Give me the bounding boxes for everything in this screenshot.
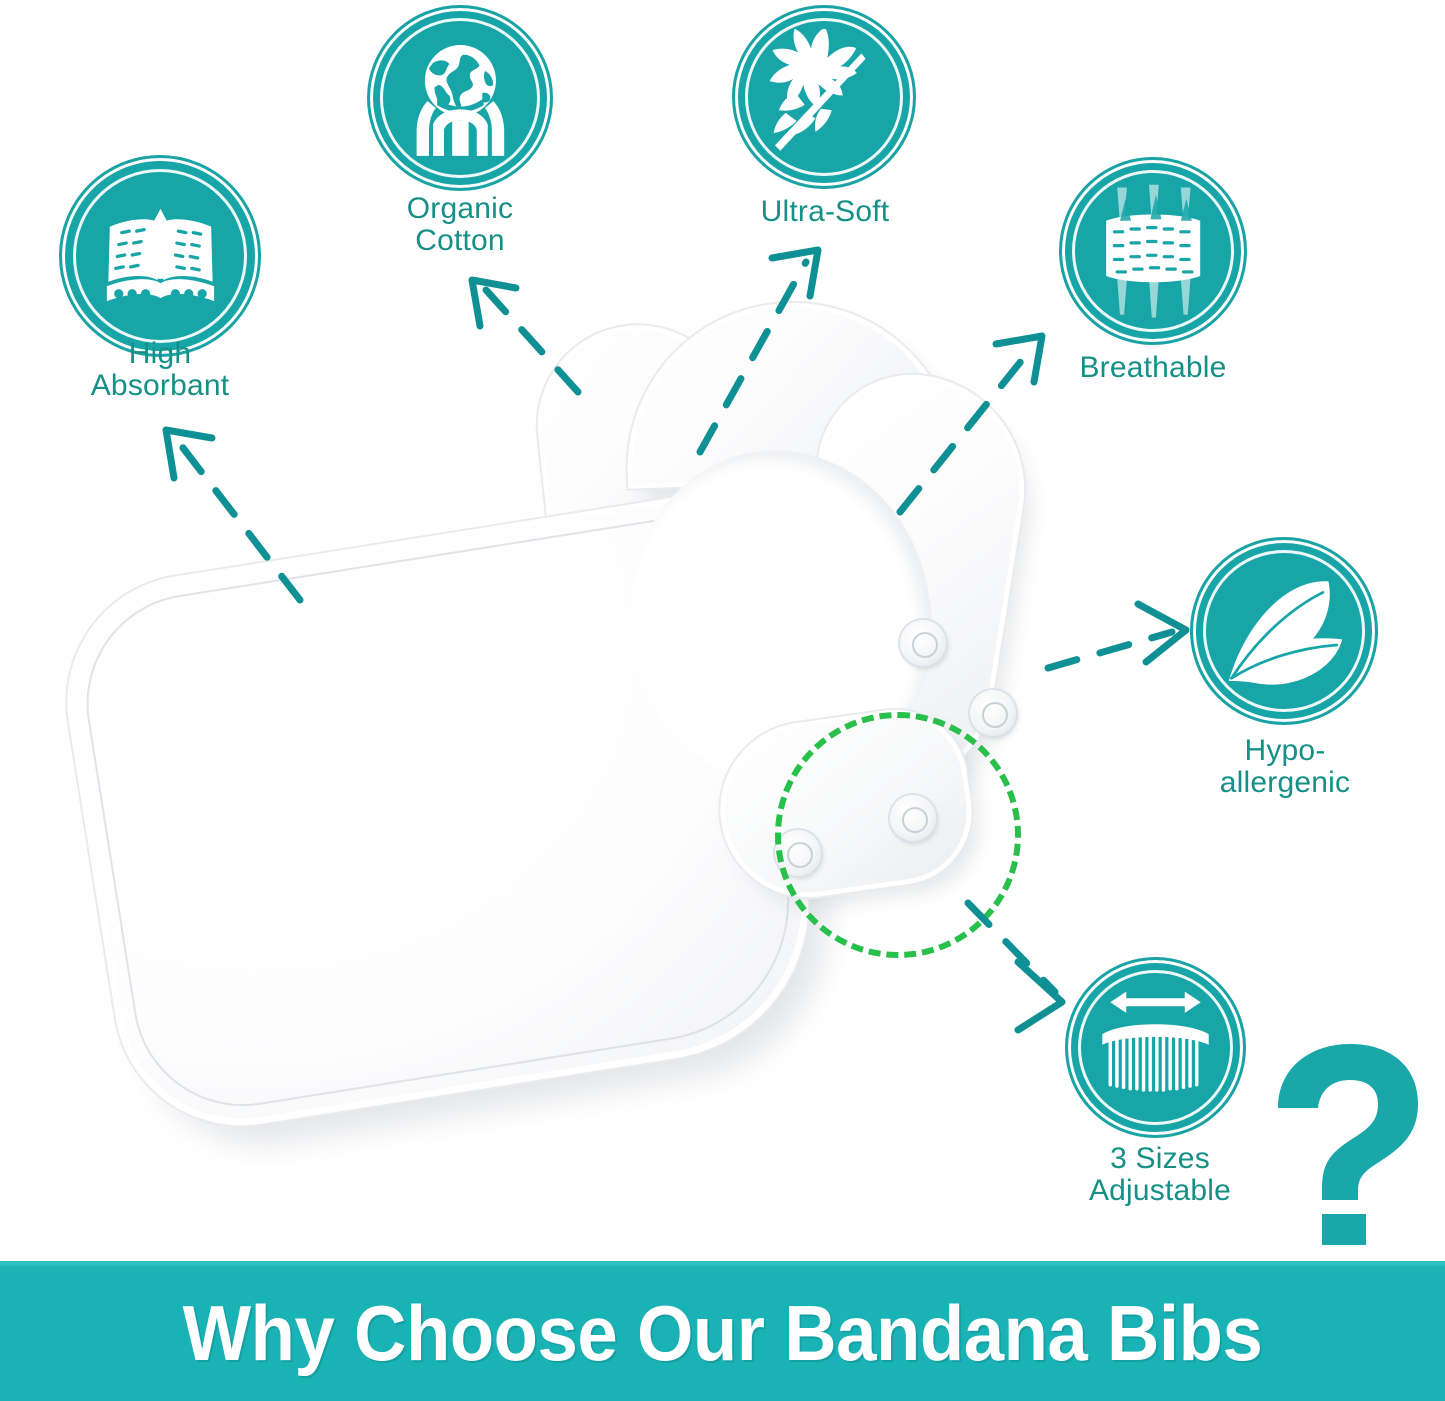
product-photo-bandana-bib [70, 290, 1070, 1110]
feature-label-high-absorbant: High Absorbant [40, 338, 280, 403]
feature-label-organic-cotton: Organic Cotton [340, 193, 580, 258]
feature-label-hypoallergenic: Hypo- allergenic [1160, 735, 1410, 800]
feature-badge-high-absorbant [62, 158, 258, 354]
globe-in-hands-icon [392, 30, 529, 167]
leaf-icon [1215, 562, 1353, 700]
absorbent-drop-fabric-icon [86, 182, 235, 331]
feature-badge-ultra-soft [735, 8, 913, 186]
infographic-canvas: High Absorbant [0, 0, 1445, 1401]
breathable-airflow-fabric-icon [1084, 182, 1222, 320]
snap-closure-highlight-ring [775, 712, 1021, 958]
feature-badge-organic-cotton [370, 8, 550, 188]
question-mark-icon [1272, 1042, 1422, 1247]
feature-label-ultra-soft: Ultra-Soft [700, 196, 950, 228]
feature-label-breathable: Breathable [1018, 352, 1288, 384]
feature-label-3-sizes-adjustable: 3 Sizes Adjustable [1035, 1143, 1285, 1208]
snap-button [900, 620, 946, 666]
feature-badge-hypoallergenic [1193, 540, 1375, 722]
feature-badge-breathable [1062, 160, 1244, 342]
feature-badge-3-sizes-adjustable [1068, 960, 1243, 1135]
bottom-banner: Why Choose Our Bandana Bibs [0, 1266, 1445, 1401]
banner-headline: Why Choose Our Bandana Bibs [183, 1288, 1263, 1379]
arrowhead-hypoallergenic [1138, 604, 1186, 662]
adjustable-comb-arrow-icon [1089, 981, 1222, 1114]
feather-icon [756, 29, 891, 164]
snap-button [970, 690, 1016, 736]
